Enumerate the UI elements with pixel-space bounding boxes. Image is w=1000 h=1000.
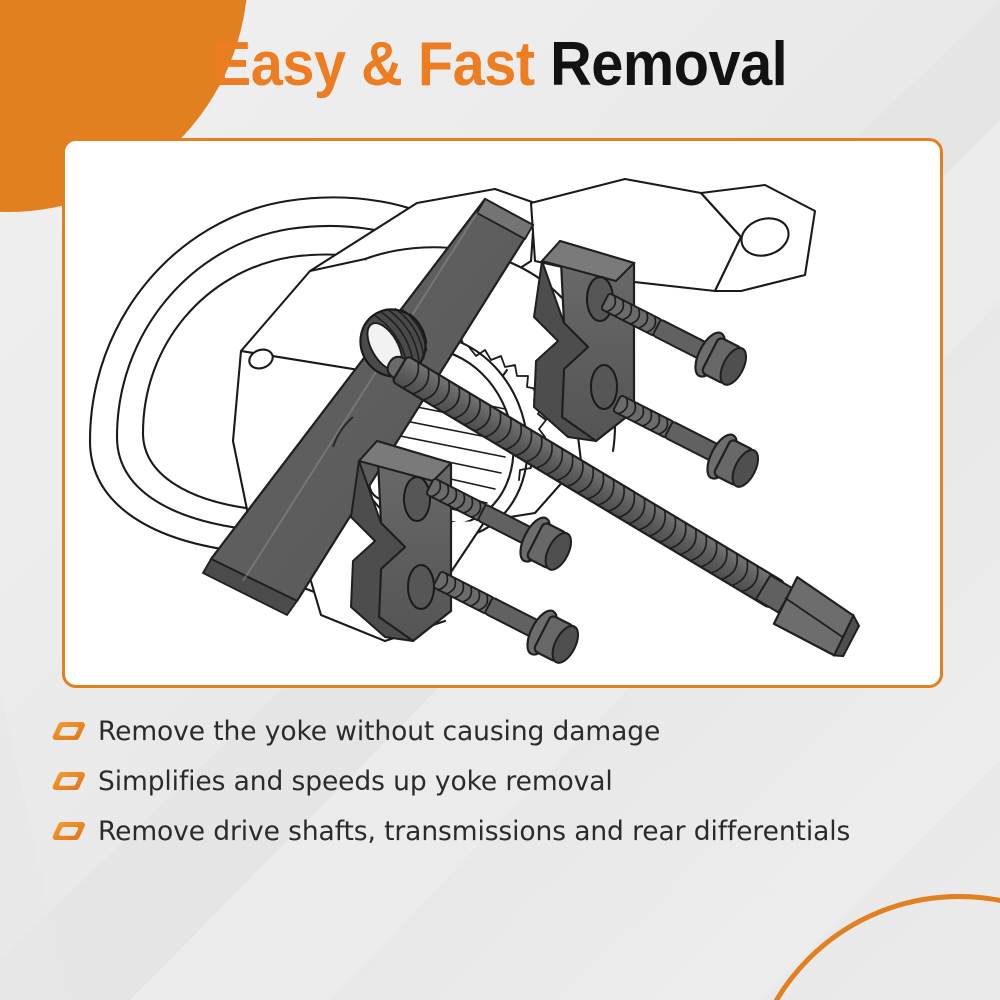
product-illustration-panel: [62, 138, 943, 688]
feature-list: Remove the yoke without causing damage S…: [52, 706, 992, 856]
infographic-canvas: Easy & Fast Removal: [0, 0, 1000, 1000]
list-item-label: Remove the yoke without causing damage: [98, 716, 660, 747]
list-item: Remove the yoke without causing damage: [52, 706, 992, 756]
parallelogram-bullet-icon: [52, 770, 98, 792]
list-item: Remove drive shafts, transmissions and r…: [52, 806, 992, 856]
list-item-label: Remove drive shafts, transmissions and r…: [98, 816, 850, 847]
title-plain-text: Removal: [535, 30, 788, 99]
yoke-puller-tool-exploded-view: [65, 141, 940, 685]
page-title: Easy & Fast Removal: [35, 26, 965, 104]
flange-bolt-2: [606, 382, 765, 495]
list-item: Simplifies and speeds up yoke removal: [52, 756, 992, 806]
parallelogram-bullet-icon: [52, 820, 98, 842]
list-item-label: Simplifies and speeds up yoke removal: [98, 766, 613, 797]
flange-bolt-4: [426, 558, 585, 671]
title-accent-text: Easy & Fast: [213, 30, 535, 99]
parallelogram-bullet-icon: [52, 720, 98, 742]
